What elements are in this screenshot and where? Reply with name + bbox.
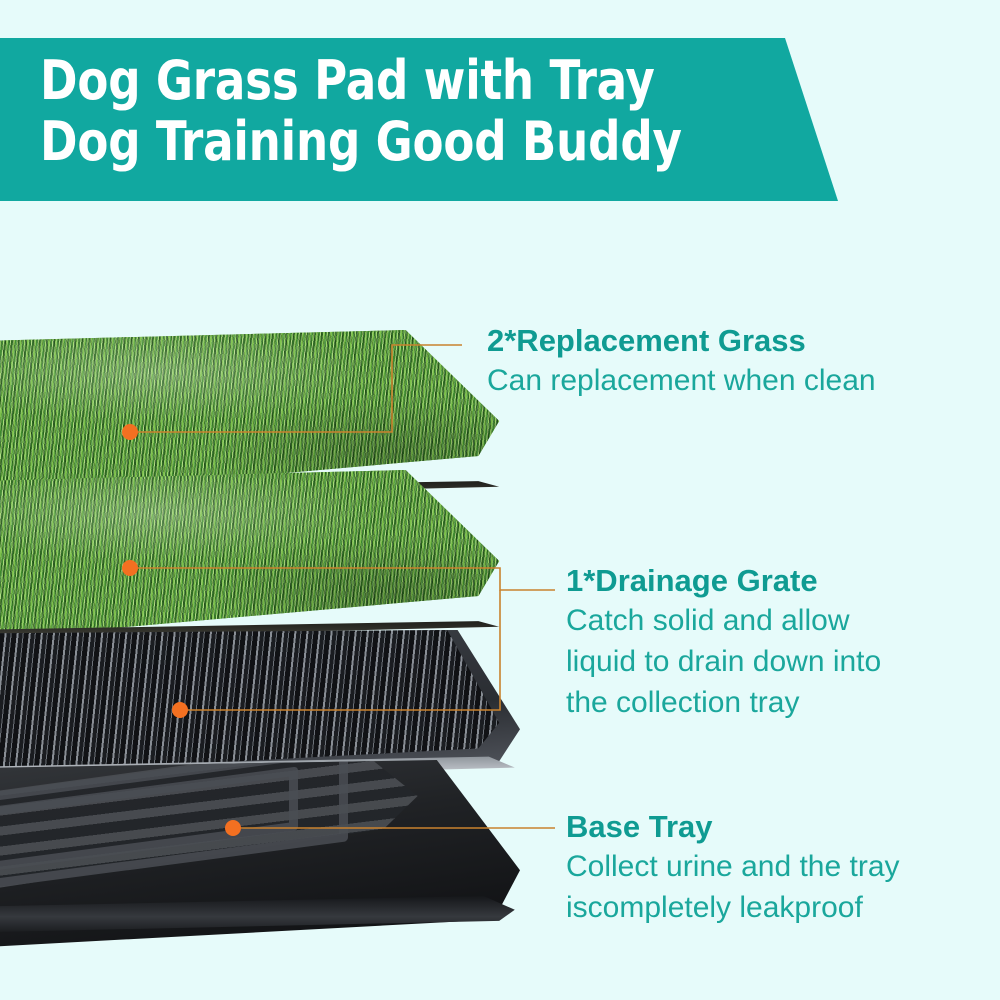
- grass-mat-bottom-layer: [0, 470, 520, 645]
- callout-title: 2*Replacement Grass: [487, 322, 876, 360]
- marker-dot-drainage-grate: [172, 702, 188, 718]
- page-title: Dog Grass Pad with Tray Dog Training Goo…: [40, 50, 800, 172]
- callout-body: Catch solid and allow liquid to drain do…: [566, 600, 881, 723]
- product-layer-stack: [0, 300, 520, 940]
- callout-replacement-grass: 2*Replacement Grass Can replacement when…: [487, 322, 876, 401]
- title-line-2: Dog Training Good Buddy: [40, 111, 747, 172]
- callout-drainage-grate: 1*Drainage Grate Catch solid and allow l…: [566, 562, 881, 723]
- callout-title: Base Tray: [566, 808, 900, 846]
- callout-body: Collect urine and the tray iscompletely …: [566, 846, 900, 928]
- callout-body-line: iscompletely leakproof: [566, 887, 900, 928]
- callout-body: Can replacement when clean: [487, 360, 876, 401]
- callout-base-tray: Base Tray Collect urine and the tray isc…: [566, 808, 900, 928]
- callout-body-line: Can replacement when clean: [487, 360, 876, 401]
- callout-body-line: liquid to drain down into: [566, 641, 881, 682]
- base-tray-layer: [0, 760, 520, 950]
- callout-body-line: Catch solid and allow: [566, 600, 881, 641]
- marker-dot-grass-lower: [122, 560, 138, 576]
- title-line-1: Dog Grass Pad with Tray: [40, 50, 747, 111]
- callout-body-line: Collect urine and the tray: [566, 846, 900, 887]
- grass-texture: [0, 470, 520, 645]
- infographic-canvas: Dog Grass Pad with Tray Dog Training Goo…: [0, 0, 1000, 1000]
- marker-dot-grass-upper: [122, 424, 138, 440]
- marker-dot-base-tray: [225, 820, 241, 836]
- callout-body-line: the collection tray: [566, 682, 881, 723]
- callout-title: 1*Drainage Grate: [566, 562, 881, 600]
